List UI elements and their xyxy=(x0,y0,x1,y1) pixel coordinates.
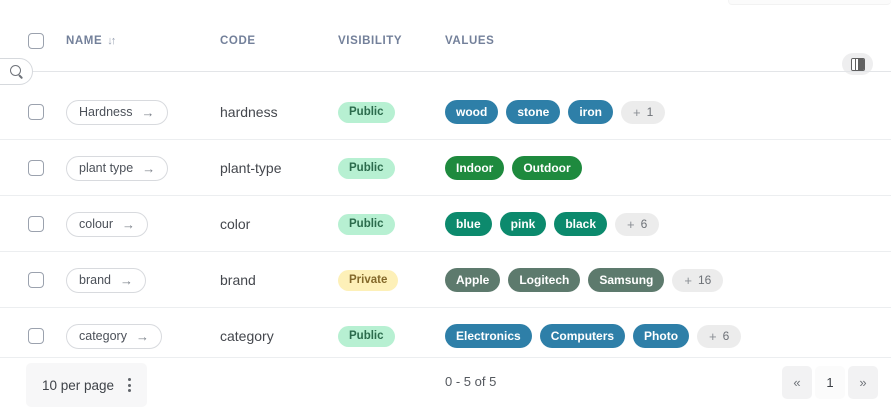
plus-icon: + xyxy=(633,106,641,119)
attribute-name-pill[interactable]: colour→ xyxy=(66,212,148,237)
attribute-code-text: plant-type xyxy=(220,160,281,176)
value-tag[interactable]: Apple xyxy=(445,268,500,292)
value-tag[interactable]: pink xyxy=(500,212,547,236)
attribute-code-text: color xyxy=(220,216,250,232)
arrow-right-icon: → xyxy=(142,162,155,175)
cell-values: bluepinkblack+6 xyxy=(445,196,881,252)
visibility-status-badge: Public xyxy=(338,214,395,235)
pagination: « 1 » xyxy=(782,366,878,399)
cell-code: color xyxy=(220,196,250,252)
attribute-name-pill[interactable]: brand→ xyxy=(66,268,146,293)
visibility-status-badge: Private xyxy=(338,270,398,291)
value-tag-list: bluepinkblack+6 xyxy=(445,212,659,236)
pagination-next-button[interactable]: » xyxy=(848,366,878,399)
per-page-label: 10 per page xyxy=(42,378,114,393)
row-select-checkbox[interactable] xyxy=(28,328,44,344)
more-values-count: 16 xyxy=(698,273,711,287)
value-tag[interactable]: Outdoor xyxy=(512,156,581,180)
row-select-checkbox-wrapper[interactable] xyxy=(28,140,44,196)
attribute-name-pill[interactable]: category→ xyxy=(66,324,162,349)
value-tag[interactable]: Samsung xyxy=(588,268,664,292)
pagination-page-1-button[interactable]: 1 xyxy=(815,366,845,399)
table-header-row: NAME↓↑ CODE VISIBILITY VALUES xyxy=(0,25,891,58)
cell-code: plant-type xyxy=(220,140,281,196)
cell-values: IndoorOutdoor xyxy=(445,140,881,196)
arrow-right-icon: → xyxy=(142,106,155,119)
column-header-name-label: NAME xyxy=(66,35,102,47)
value-tag[interactable]: blue xyxy=(445,212,492,236)
value-tag[interactable]: Indoor xyxy=(445,156,504,180)
visibility-status-badge: Public xyxy=(338,102,395,123)
cell-visibility: Public xyxy=(338,196,395,252)
value-tag-list: AppleLogitechSamsung+16 xyxy=(445,268,723,292)
more-values-chip[interactable]: +6 xyxy=(615,213,659,236)
value-tag[interactable]: Electronics xyxy=(445,324,532,348)
table-row[interactable]: colour→colorPublicbluepinkblack+6 xyxy=(0,196,891,252)
value-tag[interactable]: Computers xyxy=(540,324,625,348)
row-select-checkbox[interactable] xyxy=(28,216,44,232)
cell-code: hardness xyxy=(220,84,278,140)
select-all-checkbox-wrapper[interactable] xyxy=(28,33,44,49)
value-tag[interactable]: Photo xyxy=(633,324,689,348)
value-tag[interactable]: stone xyxy=(506,100,560,124)
more-values-chip[interactable]: +16 xyxy=(672,269,723,292)
attributes-table-screen: NAME↓↑ CODE VISIBILITY VALUES Hardness→h… xyxy=(0,0,891,415)
kebab-menu-icon[interactable] xyxy=(128,378,131,392)
row-select-checkbox-wrapper[interactable] xyxy=(28,84,44,140)
cell-name: plant type→ xyxy=(66,140,168,196)
value-tag[interactable]: black xyxy=(554,212,607,236)
panel-top-edge xyxy=(728,0,891,5)
value-tag-list: ElectronicsComputersPhoto+6 xyxy=(445,324,741,348)
attribute-name-pill[interactable]: Hardness→ xyxy=(66,100,168,125)
value-tag[interactable]: wood xyxy=(445,100,498,124)
arrow-right-icon: → xyxy=(120,274,133,287)
cell-visibility: Public xyxy=(338,140,395,196)
plus-icon: + xyxy=(684,274,692,287)
row-select-checkbox-wrapper[interactable] xyxy=(28,196,44,252)
row-select-checkbox[interactable] xyxy=(28,272,44,288)
value-tag[interactable]: iron xyxy=(568,100,613,124)
more-values-count: 6 xyxy=(641,217,648,231)
cell-code: brand xyxy=(220,252,256,308)
column-header-name[interactable]: NAME↓↑ xyxy=(66,25,114,58)
cell-code: category xyxy=(220,308,274,364)
column-header-visibility[interactable]: VISIBILITY xyxy=(338,25,402,58)
more-values-chip[interactable]: +1 xyxy=(621,101,665,124)
table-row[interactable]: brand→brandPrivateAppleLogitechSamsung+1… xyxy=(0,252,891,308)
search-divider-row xyxy=(0,58,891,84)
cell-name: colour→ xyxy=(66,196,148,252)
cell-values: AppleLogitechSamsung+16 xyxy=(445,252,881,308)
column-header-code[interactable]: CODE xyxy=(220,25,256,58)
visibility-status-badge: Public xyxy=(338,326,395,347)
value-tag[interactable]: Logitech xyxy=(508,268,580,292)
cell-values: ElectronicsComputersPhoto+6 xyxy=(445,308,881,364)
attribute-code-text: hardness xyxy=(220,104,278,120)
visibility-status-badge: Public xyxy=(338,158,395,179)
cell-visibility: Public xyxy=(338,84,395,140)
more-values-chip[interactable]: +6 xyxy=(697,325,741,348)
value-tag-list: woodstoneiron+1 xyxy=(445,100,665,124)
table-row[interactable]: plant type→plant-typePublicIndoorOutdoor xyxy=(0,140,891,196)
attribute-name-label: Hardness xyxy=(79,105,133,119)
arrow-right-icon: → xyxy=(136,330,149,343)
row-select-checkbox-wrapper[interactable] xyxy=(28,308,44,364)
attribute-code-text: category xyxy=(220,328,274,344)
cell-visibility: Private xyxy=(338,252,398,308)
cell-name: brand→ xyxy=(66,252,146,308)
per-page-selector[interactable]: 10 per page xyxy=(26,363,147,407)
table-body: Hardness→hardnessPublicwoodstoneiron+1pl… xyxy=(0,84,891,364)
result-range-text: 0 - 5 of 5 xyxy=(445,358,496,406)
attribute-name-label: colour xyxy=(79,217,113,231)
attribute-name-pill[interactable]: plant type→ xyxy=(66,156,168,181)
arrow-right-icon: → xyxy=(122,218,135,231)
attribute-name-label: category xyxy=(79,329,127,343)
plus-icon: + xyxy=(709,330,717,343)
more-values-count: 1 xyxy=(647,105,654,119)
cell-name: Hardness→ xyxy=(66,84,168,140)
cell-values: woodstoneiron+1 xyxy=(445,84,881,140)
search-button[interactable] xyxy=(0,58,33,85)
plus-icon: + xyxy=(627,218,635,231)
sort-toggle-icon[interactable]: ↓↑ xyxy=(107,25,114,58)
table-row[interactable]: category→categoryPublicElectronicsComput… xyxy=(0,308,891,364)
row-select-checkbox-wrapper[interactable] xyxy=(28,252,44,308)
attribute-code-text: brand xyxy=(220,272,256,288)
select-all-checkbox[interactable] xyxy=(28,33,44,49)
table-row[interactable]: Hardness→hardnessPublicwoodstoneiron+1 xyxy=(0,84,891,140)
table-footer: 10 per page 0 - 5 of 5 « 1 » xyxy=(0,357,891,415)
attribute-name-label: plant type xyxy=(79,161,133,175)
more-values-count: 6 xyxy=(723,329,730,343)
cell-name: category→ xyxy=(66,308,162,364)
cell-visibility: Public xyxy=(338,308,395,364)
pagination-prev-button[interactable]: « xyxy=(782,366,812,399)
value-tag-list: IndoorOutdoor xyxy=(445,156,582,180)
attribute-name-label: brand xyxy=(79,273,111,287)
column-header-values[interactable]: VALUES xyxy=(445,25,494,58)
header-divider xyxy=(0,71,891,72)
row-select-checkbox[interactable] xyxy=(28,160,44,176)
row-select-checkbox[interactable] xyxy=(28,104,44,120)
search-icon xyxy=(10,65,23,78)
